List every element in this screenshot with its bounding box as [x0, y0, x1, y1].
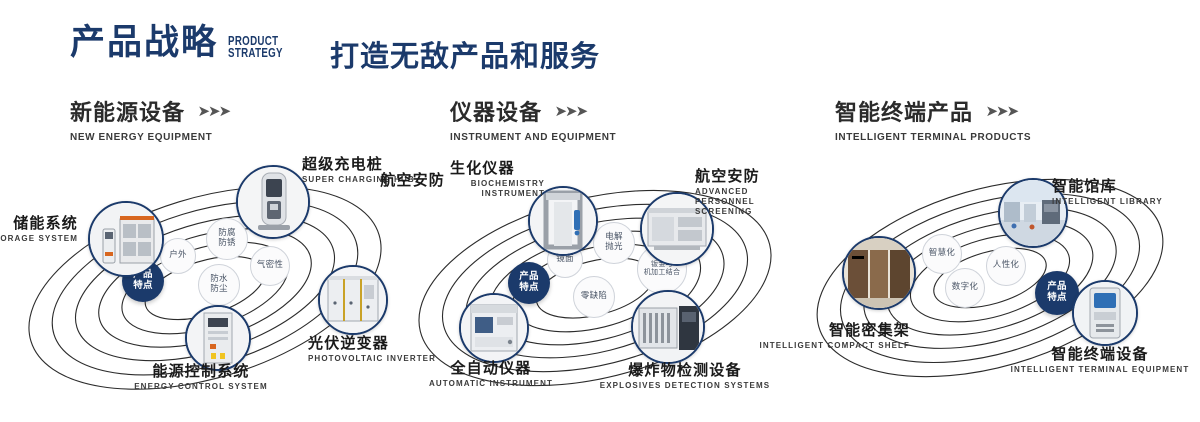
- orbit-group-terminal: 智慧化 数字化 人性化 产品 特点: [800, 150, 1200, 410]
- keyword-label: 数字化: [952, 283, 978, 293]
- node-energy-storage-system[interactable]: [88, 201, 164, 277]
- page-title: 产品战略 PRODUCT STRATEGY: [70, 26, 298, 61]
- node-super-charging-hub[interactable]: [236, 165, 310, 239]
- chevrons-right-icon: ➤➤➤: [554, 102, 586, 120]
- chevrons-right-icon: ➤➤➤: [197, 102, 229, 120]
- caption-cn: 智能馆库: [1052, 178, 1163, 195]
- caption-cn: 爆炸物检测设备: [565, 362, 805, 379]
- energy-storage-cabinet-icon: [90, 203, 162, 275]
- section-heading-cn: 新能源设备: [70, 95, 185, 127]
- keyword-label-2: 防锈: [218, 239, 236, 249]
- caption-en: INTELLIGENT LIBRARY: [1052, 197, 1163, 207]
- center-badge-line2: 特点: [1047, 293, 1067, 304]
- caption-en: EXPLOSIVES DETECTION SYSTEMS: [565, 381, 805, 391]
- keyword-bubble: 数字化: [945, 268, 985, 308]
- node-intelligent-compact-shelf[interactable]: [842, 236, 916, 310]
- node-explosives-detection-systems[interactable]: [631, 290, 705, 364]
- keyword-label: 零缺陷: [581, 292, 607, 302]
- page-title-en-line2: STRATEGY: [228, 47, 283, 59]
- caption-cn: 智能密集架: [700, 322, 910, 339]
- keyword-label: 人性化: [993, 261, 1019, 271]
- keyword-label: 气密性: [257, 261, 283, 271]
- automatic-instrument-icon: [461, 295, 527, 361]
- section-heading-terminal: 智能终端产品 ➤➤➤ INTELLIGENT TERMINAL PRODUCTS: [835, 95, 1031, 143]
- node-intelligent-terminal-equipment[interactable]: [1072, 280, 1138, 346]
- caption-cn: 能源控制系统: [86, 363, 316, 380]
- self-service-kiosk-icon: [1074, 282, 1136, 344]
- page-title-en: PRODUCT STRATEGY: [228, 35, 283, 59]
- caption-cn: 航空安防: [325, 172, 445, 189]
- keyword-bubble: 零缺陷: [573, 276, 615, 318]
- caption-en: ADVANCED PERSONNEL SCREENING: [695, 187, 803, 217]
- caption-cn: 生化仪器: [450, 160, 545, 177]
- caption-en: BIOCHEMISTRY INSTRUMENT: [450, 179, 545, 199]
- section-heading-cn: 仪器设备: [450, 95, 542, 127]
- section-heading-en: INSTRUMENT AND EQUIPMENT: [450, 132, 616, 143]
- control-cabinet-icon: [187, 307, 249, 369]
- node-automatic-instrument[interactable]: [459, 293, 529, 363]
- keyword-label-2: 防尘: [210, 285, 228, 295]
- section-heading-en: INTELLIGENT TERMINAL PRODUCTS: [835, 132, 1031, 143]
- keyword-bubble: 人性化: [986, 246, 1026, 286]
- section-heading-new-energy: 新能源设备 ➤➤➤ NEW ENERGY EQUIPMENT: [70, 95, 229, 143]
- caption-en: INTELLIGENT COMPACT SHELF: [700, 341, 910, 351]
- caption-aviation-security: 航空安防: [325, 172, 445, 189]
- keyword-bubble: 智慧化: [922, 234, 962, 274]
- keyword-label: 镜面: [556, 255, 574, 265]
- explosives-detector-icon: [633, 292, 703, 362]
- caption-en: AUTOMATIC INSTRUMENT: [391, 379, 591, 389]
- center-badge-line2: 特点: [133, 281, 153, 292]
- keyword-bubble: 防水 防尘: [198, 264, 240, 306]
- caption-cn: 航空安防: [695, 168, 803, 185]
- node-photovoltaic-inverter[interactable]: [318, 265, 388, 335]
- keyword-label: 智慧化: [929, 249, 955, 259]
- product-strategy-infographic: 产品战略 PRODUCT STRATEGY 打造无敌产品和服务 新能源设备 ➤➤…: [0, 0, 1200, 422]
- keyword-label: 户外: [169, 251, 187, 261]
- section-heading-instrument: 仪器设备 ➤➤➤ INSTRUMENT AND EQUIPMENT: [450, 95, 616, 143]
- keyword-label-2: 抛光: [605, 243, 623, 253]
- caption-energy-storage-system: 储能系统 ENERGY STORAGE SYSTEM: [0, 215, 78, 244]
- keyword-bubble: 气密性: [250, 246, 290, 286]
- page-slogan: 打造无敌产品和服务: [330, 33, 600, 75]
- caption-en: ENERGY STORAGE SYSTEM: [0, 234, 78, 244]
- caption-intelligent-terminal-equipment: 智能终端设备 INTELLIGENT TERMINAL EQUIPMENT: [1000, 346, 1200, 375]
- orbit-group-instrument: 镜面 电解 抛光 钣金与 机加工结合 零缺陷 产品 特点: [395, 150, 815, 410]
- keyword-bubble: 电解 抛光: [593, 222, 635, 264]
- caption-cn: 智能终端设备: [1000, 346, 1200, 363]
- caption-cn: 全自动仪器: [391, 360, 591, 377]
- page-title-cn: 产品战略: [70, 26, 218, 61]
- inverter-cabinet-icon: [320, 267, 386, 333]
- keyword-bubble: 户外: [160, 238, 196, 274]
- keyword-label-2: 机加工结合: [644, 269, 681, 277]
- caption-biochemistry-instrument: 生化仪器 BIOCHEMISTRY INSTRUMENT: [450, 160, 545, 199]
- caption-energy-control-system: 能源控制系统 ENERGY CONTROL SYSTEM: [86, 363, 316, 392]
- caption-advanced-personnel-screening: 航空安防 ADVANCED PERSONNEL SCREENING: [695, 168, 803, 217]
- charging-pile-icon: [238, 167, 308, 237]
- caption-intelligent-library: 智能馆库 INTELLIGENT LIBRARY: [1052, 178, 1163, 207]
- section-heading-cn: 智能终端产品: [835, 95, 973, 127]
- center-badge-line2: 特点: [519, 283, 539, 294]
- section-heading-en: NEW ENERGY EQUIPMENT: [70, 132, 229, 143]
- caption-en: ENERGY CONTROL SYSTEM: [86, 382, 316, 392]
- compact-shelf-icon: [844, 238, 914, 308]
- chevrons-right-icon: ➤➤➤: [985, 102, 1017, 120]
- caption-en: INTELLIGENT TERMINAL EQUIPMENT: [1000, 365, 1200, 375]
- caption-automatic-instrument: 全自动仪器 AUTOMATIC INSTRUMENT: [391, 360, 591, 389]
- caption-intelligent-compact-shelf: 智能密集架 INTELLIGENT COMPACT SHELF: [700, 322, 910, 351]
- caption-explosives-detection-systems: 爆炸物检测设备 EXPLOSIVES DETECTION SYSTEMS: [565, 362, 805, 391]
- caption-cn: 储能系统: [0, 215, 78, 232]
